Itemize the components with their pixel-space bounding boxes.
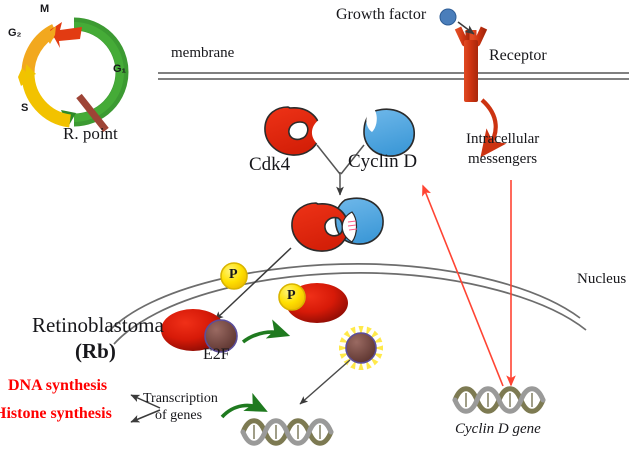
cyclin-d-shape [364,109,414,156]
nucleus-label: Nucleus [577,272,626,287]
diagram-canvas: M G₁ G₂ S R. point membrane Growth facto… [0,0,629,458]
cell-cycle-wheel [18,22,122,130]
membrane-label: membrane [171,46,234,61]
phosphate-label-1: P [229,268,238,282]
intracellular-messengers-label-line2: messengers [468,152,537,167]
intracellular-messengers-label-line1: Intracellular [466,132,539,147]
retinoblastoma-label: Retinoblastoma [32,315,164,336]
transcription-label-line2: of genes [155,409,202,423]
cdk4-label: Cdk4 [249,155,290,174]
transcription-arrow [222,405,262,417]
cell-cycle-label-m: M [40,4,49,15]
rb-abbrev-label: (Rb) [75,341,116,362]
histone-synthesis-label: Histone synthesis [0,406,112,422]
plasma-membrane-line [158,73,629,79]
e2f-release-arrow [243,332,284,342]
e2f-label: E2F [203,347,230,363]
cell-cycle-label-g1: G₁ [113,64,126,75]
receptor-label: Receptor [489,48,547,64]
cyclin-d-label: Cyclin D [348,152,417,171]
cyclin-d-gene-label: Cyclin D gene [455,422,541,437]
activated-e2f-icon [300,326,383,404]
phosphorylation-arrow [215,248,291,320]
dna-helix-target-genes [243,421,331,444]
cell-cycle-label-g2: G₂ [8,28,21,39]
cdk4-cyclind-complex [292,198,383,251]
dna-helix-cyclin-d-gene [455,389,543,412]
transcription-label-line1: Transcription [143,392,218,406]
cell-cycle-label-s: S [21,103,28,114]
cdk4-shape [265,107,325,155]
dna-synthesis-label: DNA synthesis [8,378,107,394]
receptor-icon [458,28,496,146]
restriction-point-label: R. point [63,125,118,142]
growth-factor-label: Growth factor [336,7,426,23]
phosphate-label-2: P [287,289,296,303]
